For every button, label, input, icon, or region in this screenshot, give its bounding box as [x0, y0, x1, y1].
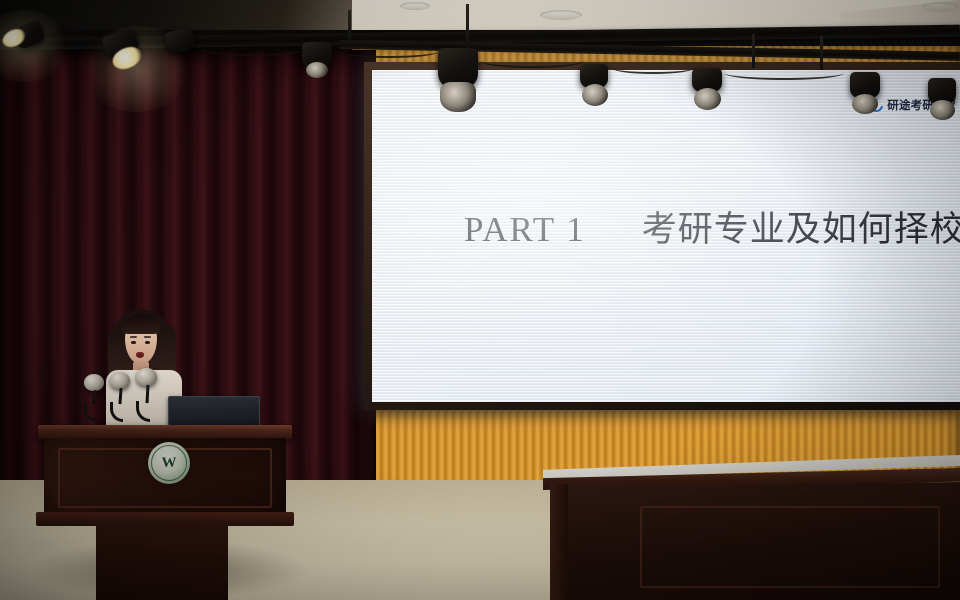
speaker-eye-right: [145, 341, 150, 344]
truss-drop-rod-4: [348, 10, 351, 44]
microphone-3-head: [136, 368, 157, 386]
rig-cable-5: [724, 66, 844, 80]
projection-screen: 研途考研&智 PART 1 考研专业及如何择校: [372, 70, 960, 402]
spotlight-4-lens: [306, 62, 328, 78]
spotlight-5-lens: [440, 82, 476, 112]
spotlight-9-lens: [930, 100, 955, 120]
podium-emblem-mark: W: [148, 442, 190, 484]
truss-drop-rod-2: [752, 34, 755, 68]
ceiling-vent-5: [400, 2, 430, 10]
speaker-mouth: [136, 352, 144, 358]
speaker-eye-left: [131, 341, 136, 344]
speaker-brow-left: [130, 336, 137, 338]
presentation-hall-scene: 研途考研&智 PART 1 考研专业及如何择校: [0, 0, 960, 600]
spotlight-6-lens: [582, 84, 608, 106]
ceiling-vent-1: [540, 10, 582, 20]
slide-heading: 考研专业及如何择校: [642, 201, 960, 252]
speaker-hair-fringe: [122, 314, 160, 334]
spotlight-8-lens: [852, 94, 878, 114]
microphone-2-head: [110, 372, 130, 389]
spotlight-7-lens: [694, 88, 721, 110]
rig-cable-4: [612, 62, 694, 74]
podium-base: [96, 524, 228, 600]
rig-cable-3: [480, 54, 584, 68]
foreground-table-leg-left: [550, 484, 568, 600]
microphone-1-head: [84, 374, 104, 391]
rig-cable-2: [336, 44, 440, 58]
slide-title: PART 1 考研专业及如何择校: [464, 201, 960, 252]
podium-emblem: W: [148, 442, 190, 484]
speaker-brow-right: [144, 336, 151, 338]
rig-cable-1: [200, 40, 308, 56]
presenter-laptop[interactable]: [168, 396, 260, 426]
ceiling-recessed-light-2: [922, 2, 958, 12]
truss-drop-rod-1: [466, 4, 469, 48]
slide-part-label: PART 1: [464, 210, 586, 250]
podium-top: [38, 425, 292, 439]
foreground-table-inset-panel: [640, 506, 940, 588]
truss-drop-rod-3: [820, 36, 823, 70]
